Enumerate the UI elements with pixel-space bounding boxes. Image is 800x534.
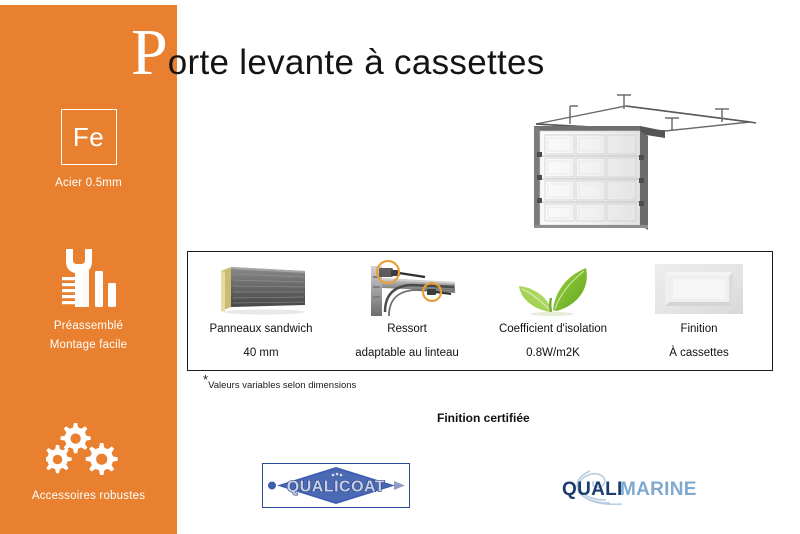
sidebar-block-material: Fe Acier 0.5mm [0, 109, 177, 193]
footnote-disclaimer: *Valeurs variables selon dimensions [203, 380, 356, 392]
cassette-panel-swatch [651, 258, 747, 320]
wrench-tools-icon [0, 249, 177, 307]
feature-title-insulation: Coefficient d'isolation [499, 322, 607, 336]
sectional-garage-door-image [500, 82, 790, 238]
sidebar-label-accessories: Accessoires robustes [0, 487, 177, 506]
product-sheet-page: Fe Acier 0.5mm [0, 0, 800, 534]
spring-mechanism-image [355, 258, 459, 320]
sidebar-label-easy-mounting: Montage facile [0, 336, 177, 355]
feature-sub-panel: 40 mm [243, 346, 278, 360]
qualimarine-text-part2: MARINE [620, 479, 697, 500]
qualimarine-text-part1: QUALI [562, 479, 623, 500]
feature-column-finish: Finition À cassettes [626, 252, 772, 370]
feature-column-spring: Ressort adaptable au linteau [334, 252, 480, 370]
qualicoat-logo: QUALICOAT [262, 463, 410, 508]
svg-text:QUALICOAT: QUALICOAT [287, 479, 385, 496]
qualimarine-logo: QUALI MARINE [548, 466, 708, 508]
feature-column-insulation: Coefficient d'isolation 0.8W/m2K [480, 252, 626, 370]
page-title: Porte levante à cassettes [131, 22, 545, 84]
sidebar-block-accessories: Accessoires robustes [0, 419, 177, 506]
feature-spec-box: Panneaux sandwich 40 mm [187, 251, 773, 371]
sidebar-label-preassembled: Préassemblé [0, 317, 177, 336]
certification-label: Finition certifiée [437, 411, 530, 425]
page-title-capital: P [131, 16, 168, 89]
feature-sub-spring: adaptable au linteau [355, 346, 459, 360]
green-leaves-icon [510, 258, 596, 320]
footnote-text: Valeurs variables selon dimensions [208, 380, 356, 391]
feature-sub-finish: À cassettes [669, 346, 728, 360]
feature-title-spring: Ressort [387, 322, 427, 336]
sandwich-panel-image [213, 258, 309, 320]
fe-square-icon: Fe [61, 109, 117, 165]
feature-title-finish: Finition [680, 322, 717, 336]
fe-symbol-label: Fe [73, 124, 104, 150]
sidebar-label-material: Acier 0.5mm [0, 174, 177, 193]
feature-column-panel: Panneaux sandwich 40 mm [188, 252, 334, 370]
feature-sub-insulation: 0.8W/m2K [526, 346, 580, 360]
sidebar-block-assembly: Préassemblé Montage facile [0, 249, 177, 355]
page-title-rest: orte levante à cassettes [168, 43, 545, 82]
feature-title-panel: Panneaux sandwich [210, 322, 313, 336]
gears-icon [0, 419, 177, 477]
